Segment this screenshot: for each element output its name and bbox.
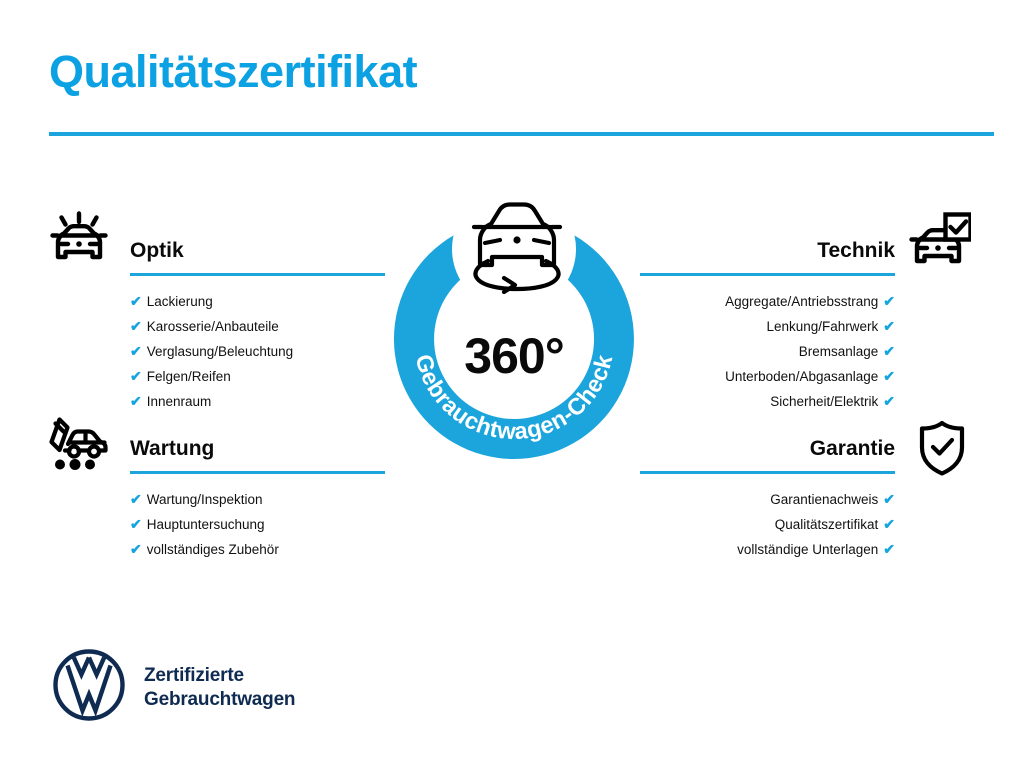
section-technik: Technik Aggregate/Antriebsstrang✔ Lenkun… xyxy=(640,238,895,414)
list-item-label: Sicherheit/Elektrik xyxy=(770,394,878,409)
list-item: ✔Karosserie/Anbauteile xyxy=(130,314,385,339)
section-header: Garantie xyxy=(640,436,895,474)
badge-360-gebrauchtwagen-check: Gebrauchtwagen-Check 360° xyxy=(372,197,656,481)
list-item-label: Garantienachweis xyxy=(770,492,878,507)
checklist-garantie: Garantienachweis✔ Qualitätszertifikat✔ v… xyxy=(640,487,895,562)
section-title: Garantie xyxy=(640,436,895,462)
list-item: Sicherheit/Elektrik✔ xyxy=(640,389,895,414)
check-icon: ✔ xyxy=(883,393,895,409)
checklist-optik: ✔Lackierung ✔Karosserie/Anbauteile ✔Verg… xyxy=(130,289,385,414)
section-divider xyxy=(640,471,895,474)
list-item: ✔Felgen/Reifen xyxy=(130,364,385,389)
vw-certified-logo-block: Zertifizierte Gebrauchtwagen xyxy=(52,648,295,727)
section-title: Wartung xyxy=(130,436,385,462)
list-item-label: Karosserie/Anbauteile xyxy=(147,319,279,334)
section-wartung: Wartung ✔Wartung/Inspektion ✔Hauptunters… xyxy=(130,436,385,562)
vw-logo-icon xyxy=(52,648,126,727)
pencil-car-service-icon xyxy=(48,414,112,477)
vw-wordmark-line2: Gebrauchtwagen xyxy=(144,688,295,712)
section-title: Optik xyxy=(130,238,385,264)
list-item-label: Lenkung/Fahrwerk xyxy=(766,319,878,334)
section-title: Technik xyxy=(640,238,895,264)
list-item: vollständige Unterlagen✔ xyxy=(640,537,895,562)
check-icon: ✔ xyxy=(883,491,895,507)
car-checkbox-icon xyxy=(909,211,971,278)
list-item: ✔Hauptuntersuchung xyxy=(130,512,385,537)
list-item: Bremsanlage✔ xyxy=(640,339,895,364)
car-rotate-icon xyxy=(444,199,584,308)
list-item-label: Innenraum xyxy=(147,394,212,409)
title-divider xyxy=(49,132,994,136)
page-title: Qualitätszertifikat xyxy=(49,47,417,97)
list-item: Aggregate/Antriebsstrang✔ xyxy=(640,289,895,314)
check-icon: ✔ xyxy=(883,343,895,359)
list-item-label: Hauptuntersuchung xyxy=(147,517,265,532)
list-item-label: Verglasung/Beleuchtung xyxy=(147,344,293,359)
list-item: ✔Innenraum xyxy=(130,389,385,414)
section-header: Technik xyxy=(640,238,895,276)
badge-360-value: 360° xyxy=(372,330,656,382)
list-item-label: Lackierung xyxy=(147,294,213,309)
list-item-label: Aggregate/Antriebsstrang xyxy=(725,294,878,309)
list-item: Unterboden/Abgasanlage✔ xyxy=(640,364,895,389)
check-icon: ✔ xyxy=(130,541,142,557)
section-divider xyxy=(130,471,385,474)
checklist-technik: Aggregate/Antriebsstrang✔ Lenkung/Fahrwe… xyxy=(640,289,895,414)
list-item-label: vollständiges Zubehör xyxy=(147,542,279,557)
list-item-label: Unterboden/Abgasanlage xyxy=(725,369,878,384)
list-item-label: vollständige Unterlagen xyxy=(737,542,878,557)
car-front-lights-icon xyxy=(48,211,110,278)
list-item: Qualitätszertifikat✔ xyxy=(640,512,895,537)
shield-check-icon xyxy=(916,420,968,481)
list-item: Lenkung/Fahrwerk✔ xyxy=(640,314,895,339)
vw-wordmark: Zertifizierte Gebrauchtwagen xyxy=(144,664,295,712)
check-icon: ✔ xyxy=(130,293,142,309)
checklist-wartung: ✔Wartung/Inspektion ✔Hauptuntersuchung ✔… xyxy=(130,487,385,562)
list-item-label: Qualitätszertifikat xyxy=(775,517,879,532)
section-garantie: Garantie Garantienachweis✔ Qualitätszert… xyxy=(640,436,895,562)
list-item: Garantienachweis✔ xyxy=(640,487,895,512)
check-icon: ✔ xyxy=(130,343,142,359)
list-item-label: Felgen/Reifen xyxy=(147,369,231,384)
list-item: ✔Verglasung/Beleuchtung xyxy=(130,339,385,364)
section-optik: Optik ✔Lackierung ✔Karosserie/Anbauteile… xyxy=(130,238,385,414)
check-icon: ✔ xyxy=(130,393,142,409)
section-divider xyxy=(640,273,895,276)
list-item-label: Bremsanlage xyxy=(799,344,879,359)
check-icon: ✔ xyxy=(130,368,142,384)
list-item: ✔vollständiges Zubehör xyxy=(130,537,385,562)
list-item-label: Wartung/Inspektion xyxy=(147,492,263,507)
list-item: ✔Wartung/Inspektion xyxy=(130,487,385,512)
check-icon: ✔ xyxy=(883,318,895,334)
check-icon: ✔ xyxy=(130,491,142,507)
section-header: Optik xyxy=(130,238,385,276)
check-icon: ✔ xyxy=(883,541,895,557)
check-icon: ✔ xyxy=(130,516,142,532)
check-icon: ✔ xyxy=(883,368,895,384)
check-icon: ✔ xyxy=(883,293,895,309)
list-item: ✔Lackierung xyxy=(130,289,385,314)
section-divider xyxy=(130,273,385,276)
section-header: Wartung xyxy=(130,436,385,474)
check-icon: ✔ xyxy=(883,516,895,532)
check-icon: ✔ xyxy=(130,318,142,334)
vw-wordmark-line1: Zertifizierte xyxy=(144,664,295,688)
